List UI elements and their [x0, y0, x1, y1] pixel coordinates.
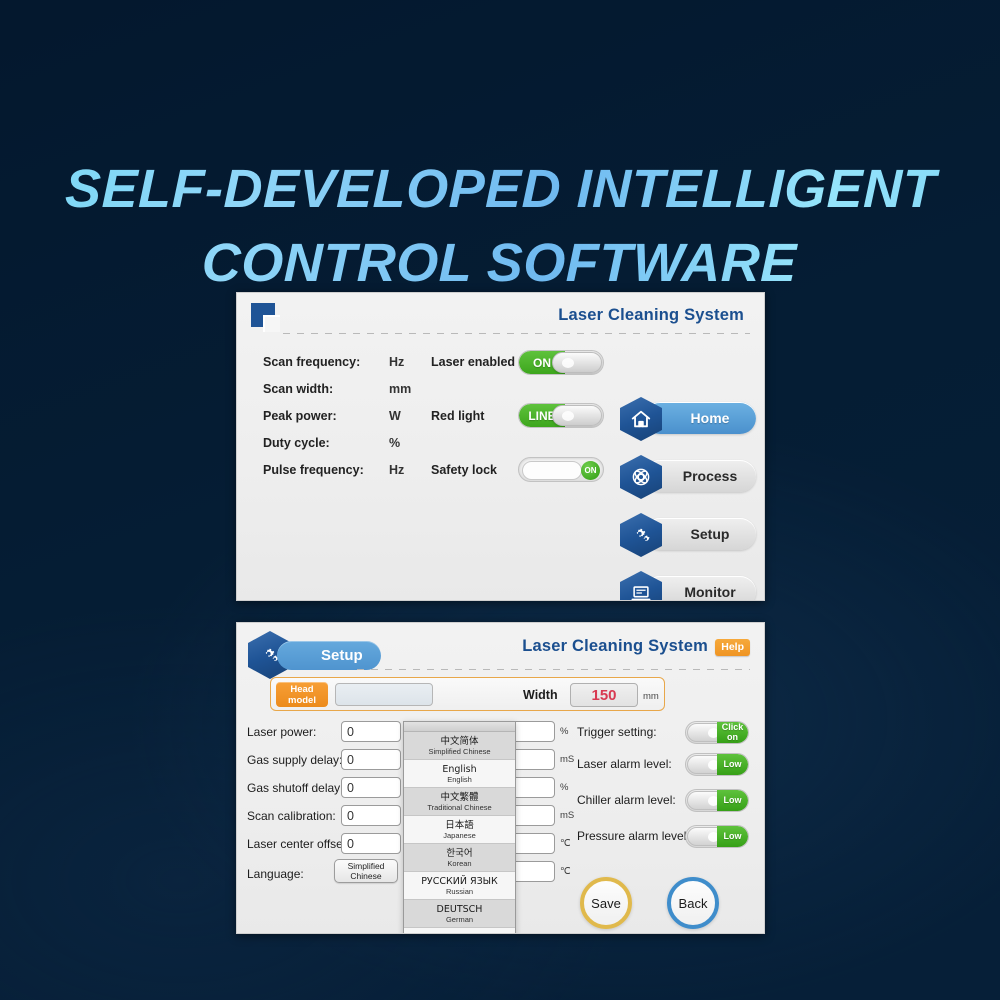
dropdown-option-native: English — [442, 764, 476, 775]
head-model-bar: Headmodel Width 150 mm — [270, 677, 665, 711]
language-select-value: SimplifiedChinese — [348, 861, 385, 881]
dropdown-option-native: 中文繁體 — [440, 792, 478, 803]
dropdown-option-english: Japanese — [443, 831, 476, 840]
dropdown-option[interactable]: DEUTSCH German — [404, 900, 515, 928]
toggle-laser-alarm-level-state: Low — [717, 754, 748, 775]
param-label-peak-power: Peak power: — [263, 409, 337, 423]
toggle-red-light-knob[interactable] — [552, 405, 602, 426]
toggle-red-light[interactable]: LINE — [518, 403, 604, 428]
page-title-line1: SELF-DEVELOPED INTELLIGENT — [65, 159, 937, 219]
setup-header: Setup Laser Cleaning System Help — [237, 623, 764, 669]
dropdown-option[interactable]: 한국어 Korean — [404, 844, 515, 872]
setup-screen-panel: Setup Laser Cleaning System Help Headmod… — [236, 622, 765, 934]
back-button[interactable]: Back — [667, 877, 719, 929]
dropdown-option[interactable]: FRANÇAIS French — [404, 928, 515, 934]
toggle-chiller-alarm-level[interactable]: Low — [685, 789, 749, 812]
dropdown-option-native: РУССКИЙ ЯЗЫК — [421, 876, 498, 887]
param-unit-duty-cycle: % — [389, 436, 400, 450]
company-logo-icon — [251, 303, 275, 327]
label-laser-alarm-level: Laser alarm level: — [577, 757, 672, 771]
unit-middle-2: mS — [560, 754, 574, 765]
input-gas-supply-delay[interactable]: 0 — [341, 749, 401, 770]
dropdown-option-native: 中文简体 — [440, 736, 478, 747]
dropdown-option-english: German — [446, 915, 473, 924]
label-chiller-alarm-level: Chiller alarm level: — [577, 793, 676, 807]
param-unit-pulse-frequency: Hz — [389, 463, 404, 477]
toggle-chiller-alarm-level-state: Low — [717, 790, 748, 811]
label-gas-supply-delay: Gas supply delay: — [247, 753, 342, 767]
param-unit-scan-width: mm — [389, 382, 411, 396]
head-model-badge-text: Headmodel — [288, 684, 316, 706]
input-laser-power[interactable]: 0 — [341, 721, 401, 742]
label-pressure-alarm-level: Pressure alarm level: — [577, 829, 690, 843]
param-unit-scan-frequency: Hz — [389, 355, 404, 369]
input-laser-center-offset[interactable]: 0 — [341, 833, 401, 854]
dropdown-option-native: DEUTSCH — [437, 904, 483, 915]
toggle-laser-enabled[interactable]: ON — [518, 350, 604, 375]
label-laser-power: Laser power: — [247, 725, 316, 739]
dropdown-option-english: Traditional Chinese — [427, 803, 491, 812]
dropdown-option-english: Korean — [447, 859, 471, 868]
unit-middle-5: ℃ — [560, 838, 571, 849]
nav-button-process[interactable]: Process — [620, 455, 756, 497]
width-input[interactable]: 150 — [570, 683, 638, 707]
dropdown-option-native: FRANÇAIS — [436, 932, 483, 935]
help-button[interactable]: Help — [715, 639, 750, 656]
toggle-pressure-alarm-level-state: Low — [717, 826, 748, 847]
home-title: Laser Cleaning System — [558, 306, 744, 325]
home-screen-panel: Laser Cleaning System Scan frequency: Hz… — [236, 292, 765, 601]
dropdown-scroll-header[interactable] — [404, 722, 515, 732]
toggle-laser-alarm-level[interactable]: Low — [685, 753, 749, 776]
toggle-safety-lock[interactable]: ON — [518, 457, 604, 482]
save-button[interactable]: Save — [580, 877, 632, 929]
nav-button-home[interactable]: Home — [620, 397, 756, 439]
param-label-scan-frequency: Scan frequency: — [263, 355, 360, 369]
page-title-line2: CONTROL SOFTWARE — [0, 226, 1000, 300]
label-gas-shutoff-delay: Gas shutoff delay: — [247, 781, 344, 795]
input-scan-calibration[interactable]: 0 — [341, 805, 401, 826]
width-unit: mm — [643, 691, 659, 702]
control-label-red-light: Red light — [431, 409, 484, 423]
dropdown-option-english: English — [447, 775, 472, 784]
label-scan-calibration: Scan calibration: — [247, 809, 336, 823]
toggle-laser-enabled-knob[interactable] — [552, 352, 602, 373]
home-body: Scan frequency: Hz Scan width: mm Peak p… — [237, 339, 764, 601]
nav-button-monitor[interactable]: Monitor — [620, 571, 756, 601]
label-trigger-setting: Trigger setting: — [577, 725, 657, 739]
unit-middle-4: mS — [560, 810, 574, 821]
setup-title: Laser Cleaning System — [522, 637, 708, 656]
label-language: Language: — [247, 867, 304, 881]
param-label-duty-cycle: Duty cycle: — [263, 436, 330, 450]
toggle-safety-lock-track — [522, 461, 582, 480]
toggle-trigger-setting[interactable]: Click on — [685, 721, 749, 744]
dropdown-option-native: 한국어 — [446, 848, 472, 859]
unit-middle-1: % — [560, 726, 568, 737]
tab-setup-label: Setup — [321, 647, 363, 664]
dropdown-option[interactable]: 日本語 Japanese — [404, 816, 515, 844]
width-label: Width — [523, 688, 558, 702]
language-select-button[interactable]: SimplifiedChinese — [334, 859, 398, 883]
unit-middle-6: ℃ — [560, 866, 571, 877]
param-unit-peak-power: W — [389, 409, 401, 423]
control-label-safety-lock: Safety lock — [431, 463, 497, 477]
tab-setup[interactable]: Setup — [277, 641, 381, 670]
unit-middle-3: % — [560, 782, 568, 793]
dropdown-option-english: Russian — [446, 887, 473, 896]
dropdown-option[interactable]: 中文繁體 Traditional Chinese — [404, 788, 515, 816]
dropdown-option[interactable]: English English — [404, 760, 515, 788]
dropdown-option-native: 日本語 — [445, 820, 474, 831]
input-gas-shutoff-delay[interactable]: 0 — [341, 777, 401, 798]
param-label-pulse-frequency: Pulse frequency: — [263, 463, 364, 477]
setup-body: Headmodel Width 150 mm Laser power: 0 W … — [237, 669, 764, 934]
head-model-input[interactable] — [335, 683, 433, 706]
language-dropdown[interactable]: 中文简体 Simplified Chinese English English … — [403, 721, 516, 934]
toggle-pressure-alarm-level[interactable]: Low — [685, 825, 749, 848]
home-header: Laser Cleaning System — [237, 293, 764, 339]
label-laser-center-offset: Laser center offset: — [247, 837, 350, 851]
control-label-laser-enabled: Laser enabled — [431, 355, 515, 369]
head-model-badge: Headmodel — [276, 682, 328, 707]
param-label-scan-width: Scan width: — [263, 382, 333, 396]
nav-button-setup[interactable]: Setup — [620, 513, 756, 555]
toggle-safety-lock-state[interactable]: ON — [581, 461, 600, 480]
header-divider — [283, 333, 750, 334]
dropdown-option[interactable]: 中文简体 Simplified Chinese — [404, 732, 515, 760]
toggle-trigger-setting-state: Click on — [717, 722, 748, 743]
dropdown-option[interactable]: РУССКИЙ ЯЗЫК Russian — [404, 872, 515, 900]
dropdown-option-english: Simplified Chinese — [428, 747, 490, 756]
